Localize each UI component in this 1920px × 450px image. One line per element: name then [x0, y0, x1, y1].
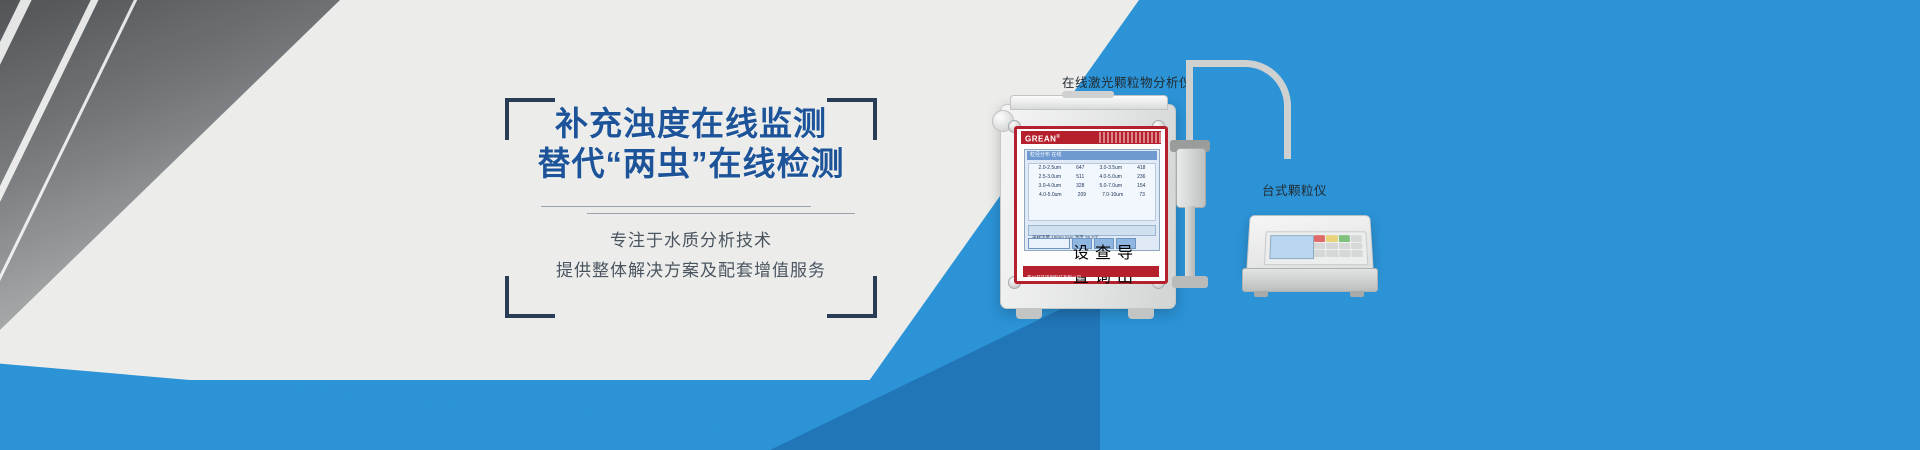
bench-top-shell — [1246, 215, 1374, 272]
reading-cell: 4.0-5.0um — [1039, 191, 1062, 200]
screen-button[interactable]: 设置 — [1072, 238, 1092, 249]
bench-key[interactable] — [1314, 235, 1325, 242]
analyzer-foot — [1016, 308, 1042, 319]
screen-button[interactable]: 导出 — [1116, 238, 1136, 249]
bench-label: 台式颗粒仪 — [1262, 180, 1327, 199]
bench-key[interactable] — [1338, 235, 1349, 242]
reading-cell: 154 — [1137, 182, 1145, 191]
reading-cell: 73 — [1139, 191, 1145, 200]
screen-reading-row: 2.5-3.0um 511 4.0-5.0um 236 — [1029, 173, 1155, 182]
reading-cell: 511 — [1076, 173, 1084, 182]
analyzer-front-panel: GREAN® 粒径分布 在线 2.0-2.5um 647 3.0-3.5um 4… — [1014, 126, 1168, 284]
reading-cell: 5.0-7.0um — [1100, 182, 1123, 191]
reading-cell: 236 — [1137, 173, 1145, 182]
screen-reading-row: 3.0-4.0um 328 5.0-7.0um 154 — [1029, 182, 1155, 191]
bench-keypad[interactable] — [1314, 235, 1363, 257]
screen-title-bar: 粒径分布 在线 — [1027, 151, 1157, 160]
hero-text-block: 补充浊度在线监测 替代“两虫”在线检测 专注于水质分析技术 提供整体解决方案及配… — [505, 98, 877, 318]
sensor-base — [1172, 276, 1208, 288]
reading-cell: 2.5-3.0um — [1039, 173, 1062, 182]
reading-cell: 418 — [1137, 164, 1145, 173]
bench-key[interactable] — [1351, 243, 1363, 250]
reading-cell: 4.0-5.0um — [1099, 173, 1122, 182]
bench-key[interactable] — [1350, 235, 1361, 242]
reading-cell: 2.0-2.5um — [1039, 164, 1062, 173]
reading-cell: 647 — [1076, 164, 1084, 173]
subtitle-line-2: 提供整体解决方案及配套增值服务 — [505, 256, 877, 286]
reading-cell: 7.0-10um — [1102, 191, 1123, 200]
screen-button[interactable]: 查询 — [1094, 238, 1114, 249]
analyzer-label: 在线激光颗粒物分析仪 — [1062, 72, 1192, 91]
reading-cell: 328 — [1076, 182, 1084, 191]
bench-foot — [1254, 291, 1268, 297]
bench-key[interactable] — [1339, 250, 1351, 257]
analyzer-footer-bar: 苏州某某环保科技有限公司 — [1023, 266, 1159, 277]
registered-mark-icon: ® — [1056, 134, 1060, 140]
connecting-pipe-segment — [1186, 60, 1193, 150]
hero-headline: 补充浊度在线监测 替代“两虫”在线检测 — [505, 104, 877, 184]
bench-key[interactable] — [1338, 243, 1350, 250]
analyzer-brand-stripe — [1099, 132, 1161, 143]
bench-control-panel — [1264, 231, 1368, 265]
screen-reading-row: 2.0-2.5um 647 3.0-3.5um 418 — [1029, 164, 1155, 173]
bench-foot — [1350, 291, 1364, 297]
online-laser-particle-analyzer: GREAN® 粒径分布 在线 2.0-2.5um 647 3.0-3.5um 4… — [1000, 104, 1176, 309]
bench-key[interactable] — [1326, 235, 1337, 242]
analyzer-screen[interactable]: 粒径分布 在线 2.0-2.5um 647 3.0-3.5um 418 2.5-… — [1024, 149, 1160, 251]
analyzer-foot — [1128, 308, 1154, 319]
benchtop-particle-counter — [1242, 214, 1376, 292]
divider-line-lower — [587, 213, 855, 214]
sensor-stem — [1185, 206, 1195, 280]
sensor-housing — [1176, 148, 1206, 208]
reading-cell: 3.0-4.0um — [1039, 182, 1062, 191]
screen-input-field[interactable] — [1028, 238, 1070, 249]
hero-banner: 补充浊度在线监测 替代“两虫”在线检测 专注于水质分析技术 提供整体解决方案及配… — [0, 0, 1920, 450]
hero-subtitle: 专注于水质分析技术 提供整体解决方案及配套增值服务 — [505, 226, 877, 286]
bench-display — [1269, 235, 1314, 259]
subtitle-line-1: 专注于水质分析技术 — [505, 226, 877, 256]
reading-cell: 209 — [1078, 191, 1086, 200]
bench-key[interactable] — [1314, 250, 1325, 257]
bench-key[interactable] — [1314, 243, 1325, 250]
analyzer-top-tab — [1062, 91, 1114, 98]
headline-line-2: 替代“两虫”在线检测 — [505, 144, 877, 184]
screen-status-bar: 采样流量 100mL/min 温度 25.3℃ — [1028, 225, 1156, 236]
bench-key[interactable] — [1326, 243, 1337, 250]
headline-line-1: 补充浊度在线监测 — [555, 105, 827, 142]
screen-title-text: 粒径分布 在线 — [1027, 151, 1157, 160]
divider-line-upper — [541, 206, 811, 207]
analyzer-brand-text: GREAN — [1025, 135, 1056, 144]
headline-divider — [541, 206, 855, 220]
screen-button-row: 设置 查询 导出 — [1028, 238, 1156, 248]
bench-key[interactable] — [1351, 250, 1363, 257]
analyzer-footer-text: 苏州某某环保科技有限公司 — [1023, 275, 1081, 280]
bench-base — [1242, 268, 1378, 292]
reading-cell: 3.0-3.5um — [1100, 164, 1123, 173]
screen-readings-grid: 2.0-2.5um 647 3.0-3.5um 418 2.5-3.0um 51… — [1028, 163, 1156, 221]
device-illustration-group: 在线激光颗粒物分析仪 台式颗粒仪 GREAN® 粒径分布 在线 — [980, 0, 1460, 450]
bench-key[interactable] — [1326, 250, 1338, 257]
screen-reading-row: 4.0-5.0um 209 7.0-10um 73 — [1029, 191, 1155, 200]
